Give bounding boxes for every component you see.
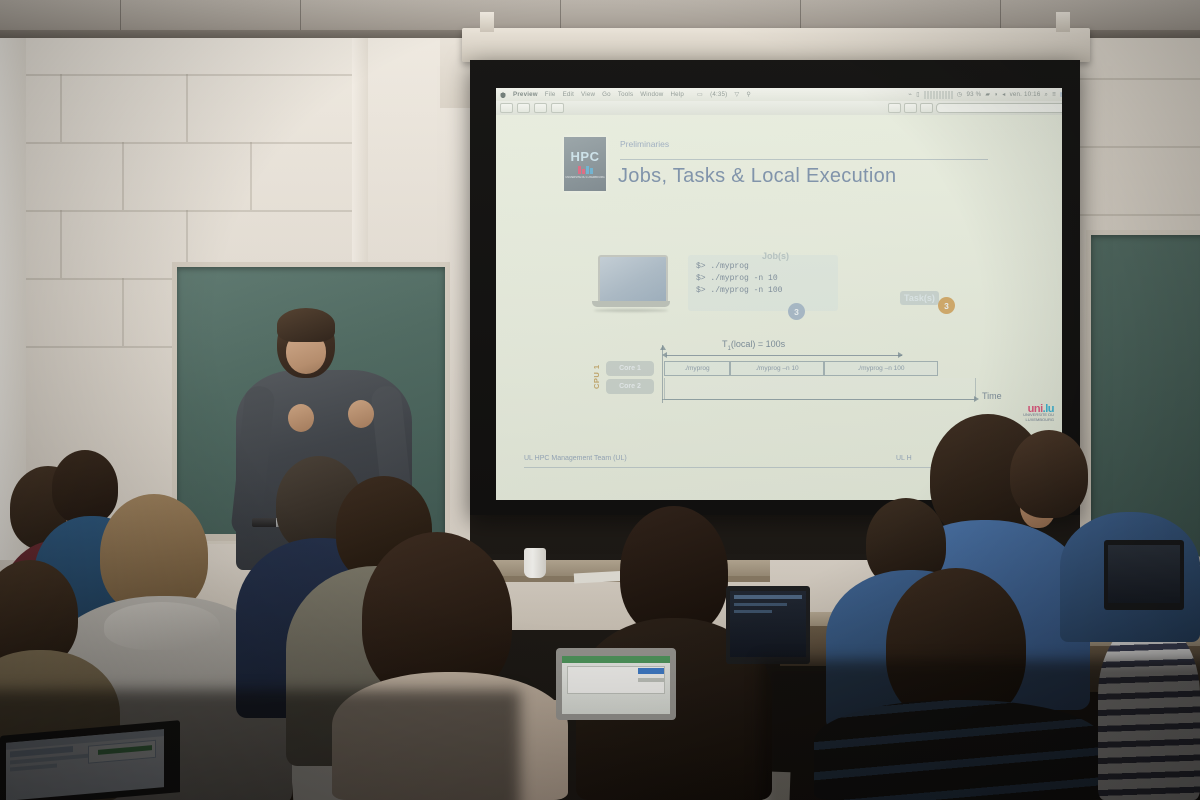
hpc-logo-text: HPC: [571, 149, 600, 164]
timeline-block-3: ./myprog –n 100: [824, 361, 938, 376]
bluetooth-icon[interactable]: ⌁: [908, 91, 912, 98]
audience-head-7: [620, 506, 728, 636]
laptop-middle-screen: [562, 656, 670, 714]
wifi-icon[interactable]: ◗: [994, 91, 998, 98]
laptop-far-right-screen: [1108, 545, 1180, 603]
apple-logo-icon[interactable]: [500, 91, 506, 98]
clock-icon[interactable]: ◷: [957, 91, 963, 98]
laptop-right[interactable]: [726, 586, 810, 664]
core-1-box: Core 1: [606, 361, 654, 376]
laptop-shadow: [594, 309, 668, 312]
presenter-hand-left: [288, 404, 314, 432]
terminal-command-block: $> ./myprog $> ./myprog -n 10 $> ./mypro…: [688, 255, 838, 311]
laptop-far-right[interactable]: [1104, 540, 1184, 610]
volume-icon[interactable]: ◂: [1002, 91, 1005, 98]
battery-percent: 93 %: [966, 91, 981, 98]
menu-item-edit[interactable]: Edit: [563, 91, 574, 98]
t1-span-label: T1(local) = 100s: [722, 339, 785, 352]
terminal-line-3: $> ./myprog -n 100: [696, 285, 830, 297]
markup-pen-icon[interactable]: [888, 103, 901, 113]
laptop-illustration: [592, 255, 670, 317]
timeline-block-1: ./myprog: [664, 361, 730, 376]
rotate-icon[interactable]: [904, 103, 917, 113]
audience-head-12: [1010, 430, 1088, 518]
cpu-label: CPU 1: [592, 357, 602, 397]
slide-footer-right: UL H: [896, 455, 912, 462]
core-2-timeline-row: [664, 378, 976, 400]
time-machine-icon[interactable]: [924, 91, 953, 99]
ul-hpc-logo: HPC UNIVERSITE DU LUXEMBOURG: [564, 137, 606, 191]
display-icon[interactable]: ▭: [697, 91, 703, 98]
macos-menubar[interactable]: Preview File Edit View Go Tools Window H…: [496, 88, 1062, 101]
share-icon[interactable]: [551, 103, 564, 113]
sidebar-icon[interactable]: [500, 103, 513, 113]
tasks-label: Task(s): [900, 291, 939, 305]
y-axis-arrowhead: [660, 342, 666, 350]
timeline-block-2: ./myprog –n 10: [730, 361, 824, 376]
zoom-in-icon[interactable]: [534, 103, 547, 113]
t1-span-arrow-left: [662, 352, 667, 358]
presenter-hair: [277, 308, 335, 342]
menubar-clock[interactable]: ven. 10:16: [1010, 91, 1041, 98]
menu-item-go[interactable]: Go: [602, 91, 611, 98]
time-axis-label: Time: [982, 391, 1002, 401]
notification-center-icon[interactable]: ▤: [1060, 91, 1062, 98]
slide-title-rule: [620, 159, 988, 160]
terminal-line-2: $> ./myprog -n 10: [696, 273, 830, 285]
t1-span-line: [666, 355, 902, 356]
slide-title: Jobs, Tasks & Local Execution: [618, 165, 896, 188]
search-input[interactable]: [936, 103, 1062, 113]
timeline-x-axis: [662, 399, 974, 400]
list-icon[interactable]: ≡: [1052, 91, 1056, 98]
t1-span-arrow-right: [898, 352, 903, 358]
menu-item-window[interactable]: Window: [640, 91, 663, 98]
slide-eyebrow: Preliminaries: [620, 139, 669, 149]
lecture-hall-photo: Preview File Edit View Go Tools Window H…: [0, 0, 1200, 800]
jobs-count-badge: 3: [788, 303, 805, 320]
laptop-base: [592, 301, 670, 307]
menu-item-preview[interactable]: Preview: [513, 91, 538, 98]
laptop-screen: [598, 255, 668, 304]
preview-toolbar[interactable]: [496, 101, 1062, 116]
hpc-logo-bars: [578, 166, 593, 174]
search-icon[interactable]: ⌕: [1044, 91, 1048, 99]
jobs-label: Job(s): [762, 251, 789, 261]
projector-screen-housing: [462, 28, 1090, 62]
presenter-hand-right: [348, 400, 374, 428]
display-time-value: (4:35): [710, 91, 727, 98]
hoodie-hood: [104, 602, 220, 650]
dropbox-icon[interactable]: ▽: [734, 91, 739, 98]
hpc-logo-subtitle: UNIVERSITE DU LUXEMBOURG: [565, 176, 604, 179]
wrench-icon[interactable]: ⚲: [746, 91, 751, 98]
audience-head-2: [52, 450, 118, 524]
core-2-box: Core 2: [606, 379, 654, 394]
menu-item-tools[interactable]: Tools: [618, 91, 633, 98]
laptop-right-screen: [730, 591, 806, 657]
terminal-line-1: $> ./myprog: [696, 261, 830, 273]
slide-footer-left: UL HPC Management Team (UL): [524, 455, 627, 462]
annotate-icon[interactable]: [920, 103, 933, 113]
coffee-cup-middle: [524, 548, 546, 578]
menu-item-help[interactable]: Help: [670, 91, 684, 98]
zoom-out-icon[interactable]: [517, 103, 530, 113]
core-1-timeline-row: ./myprog ./myprog –n 10 ./myprog –n 100: [664, 361, 938, 376]
execution-timeline: CPU 1 Core 1 Core 2 T1(local) = 100s ./m…: [592, 337, 992, 407]
x-axis-arrowhead: [974, 396, 979, 402]
battery-icon[interactable]: ▰: [985, 91, 990, 98]
laptop-middle[interactable]: [556, 648, 676, 720]
menu-item-view[interactable]: View: [581, 91, 595, 98]
menu-item-file[interactable]: File: [545, 91, 556, 98]
lock-icon[interactable]: ▯: [916, 91, 920, 98]
tasks-count-badge: 3: [938, 297, 955, 314]
